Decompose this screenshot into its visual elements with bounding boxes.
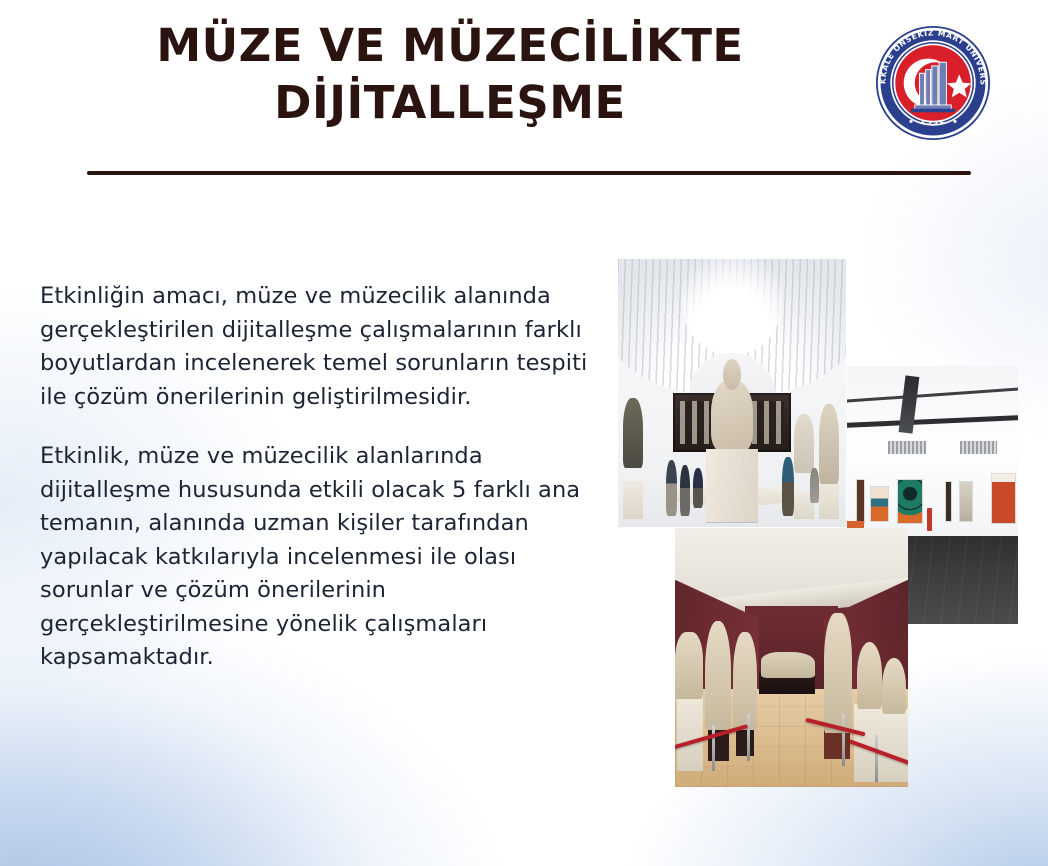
slide-title-block: MÜZE VE MÜZECİLİKTE DİJİTALLEŞME bbox=[80, 18, 820, 131]
photo-museum-sculpture-hall bbox=[618, 259, 846, 527]
body-paragraph-2: Etkinlik, müze ve müzecilik alanlarında … bbox=[40, 440, 600, 675]
body-paragraph-1: Etkinliğin amacı, müze ve müzecilik alan… bbox=[40, 280, 600, 414]
logo-emblem bbox=[895, 45, 971, 121]
university-logo: ÇANAKKALE ONSEKİZ MART ÜNİVERSİTESİ 1992 bbox=[872, 22, 994, 144]
page-title-line-2: DİJİTALLEŞME bbox=[274, 76, 626, 129]
photo-antiquities-gallery bbox=[675, 528, 908, 787]
title-divider bbox=[87, 171, 971, 175]
page-title-line-1: MÜZE VE MÜZECİLİKTE bbox=[156, 19, 743, 72]
slide-body-text: Etkinliğin amacı, müze ve müzecilik alan… bbox=[40, 280, 600, 675]
presentation-slide: MÜZE VE MÜZECİLİKTE DİJİTALLEŞME ÇANAKKA… bbox=[0, 0, 1048, 866]
page-title: MÜZE VE MÜZECİLİKTE DİJİTALLEŞME bbox=[80, 18, 820, 131]
